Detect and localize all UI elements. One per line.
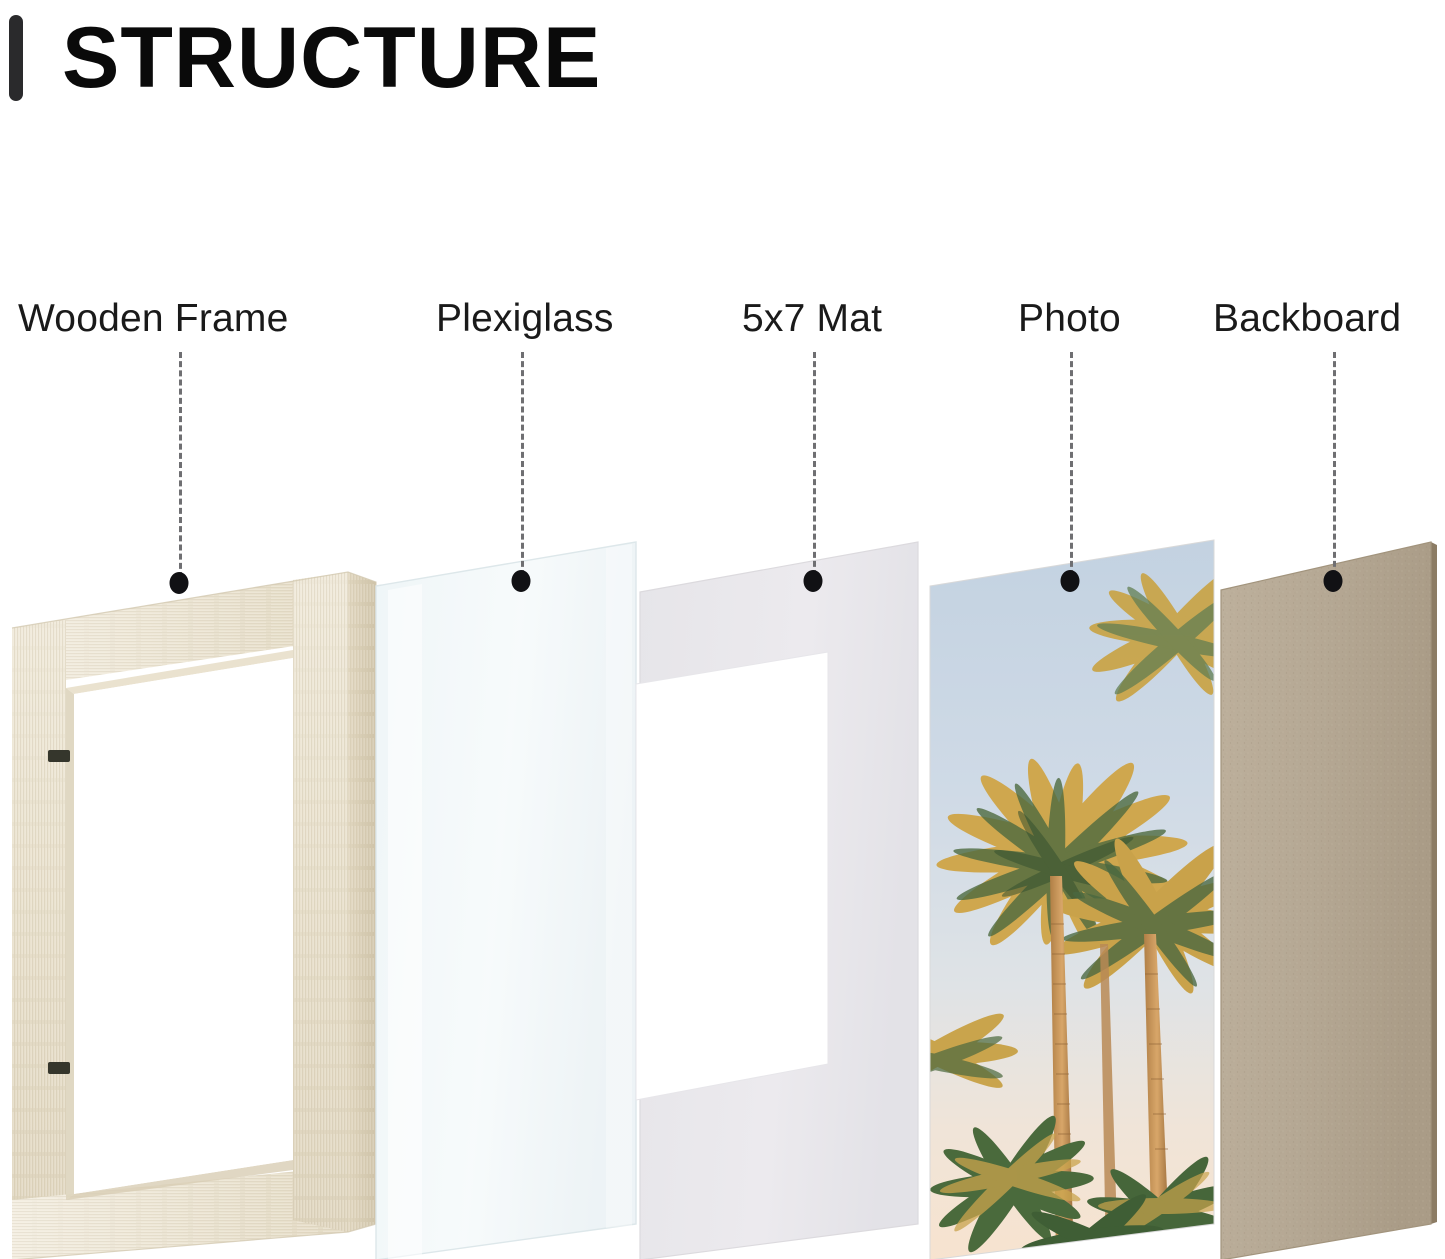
part-photo[interactable]	[922, 524, 1222, 1259]
structure-diagram-page: STRUCTURE	[0, 0, 1445, 1259]
leader-line-photo	[1070, 352, 1073, 576]
frame-clip-lower	[48, 1062, 70, 1074]
leader-dot-wooden-frame	[170, 572, 189, 594]
leader-dot-backboard	[1324, 570, 1343, 592]
leader-dot-photo	[1061, 570, 1080, 592]
leader-line-plexiglass	[521, 352, 524, 576]
frame-clip-upper	[48, 750, 70, 762]
exploded-view-stage	[0, 0, 1445, 1259]
leader-line-mat	[813, 352, 816, 576]
part-backboard[interactable]	[1215, 524, 1445, 1259]
label-wooden-frame: Wooden Frame	[18, 296, 288, 342]
leader-dot-mat	[804, 570, 823, 592]
leader-line-backboard	[1333, 352, 1336, 576]
label-plexiglass: Plexiglass	[436, 296, 614, 342]
part-mat[interactable]	[636, 524, 926, 1259]
part-plexiglass[interactable]	[370, 524, 640, 1259]
label-mat: 5x7 Mat	[742, 296, 882, 342]
part-wooden-frame[interactable]	[8, 560, 378, 1259]
label-backboard: Backboard	[1213, 296, 1401, 342]
label-photo: Photo	[1018, 296, 1121, 342]
leader-line-wooden-frame	[179, 352, 182, 578]
leader-dot-plexiglass	[512, 570, 531, 592]
